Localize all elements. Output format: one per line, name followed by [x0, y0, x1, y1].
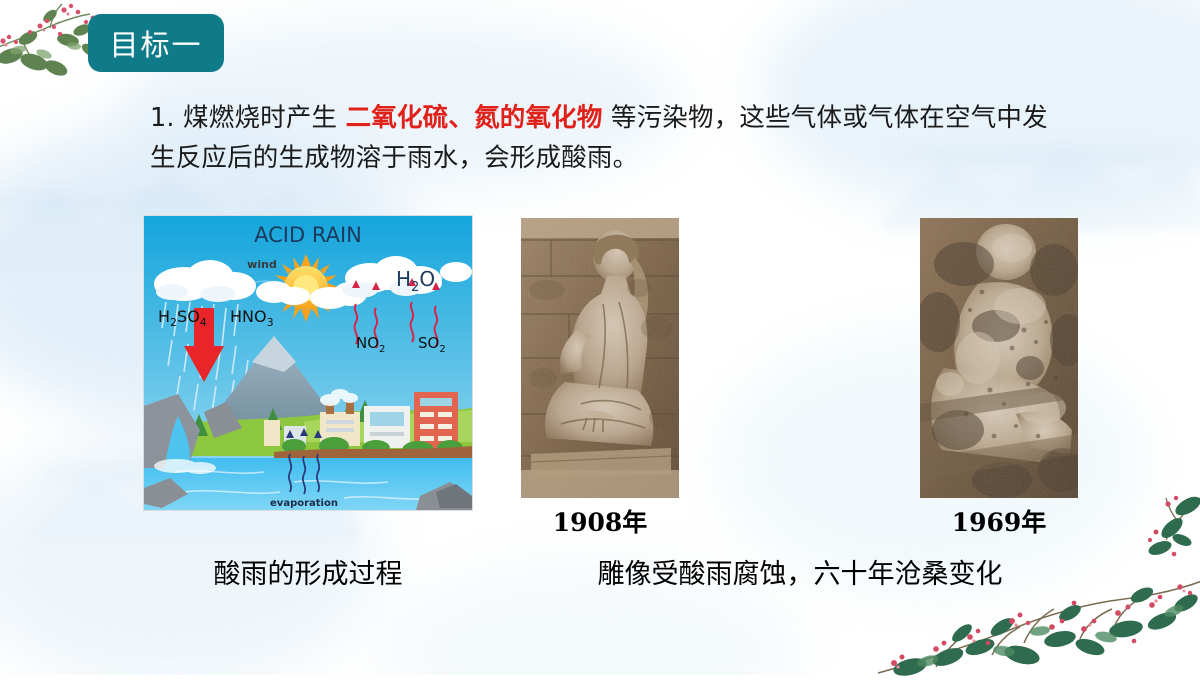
caption-acid-rain-process: 酸雨的形成过程 [120, 552, 496, 591]
caption-year-1908: 1908年 [521, 503, 679, 539]
paragraph-number: 1. [150, 103, 175, 133]
statue-photo-1969 [920, 218, 1078, 498]
evaporation-label: evaporation [270, 498, 338, 509]
acid-rain-title-label: ACID RAIN [254, 223, 362, 247]
paragraph-highlight: 二氧化硫、氮的氧化物 [346, 103, 603, 133]
caption-year-1969: 1969年 [920, 503, 1078, 539]
acid-rain-diagram-image: ACID RAIN wind H2O H2SO4 HNO3 NO2 SO2 ev… [143, 215, 473, 511]
caption-statue-corrosion: 雕像受酸雨腐蚀，六十年沧桑变化 [540, 552, 1060, 591]
paragraph-part-one: 煤燃烧时产生 [183, 103, 337, 133]
floral-decoration-mid-right [1132, 492, 1200, 572]
wind-label: wind [247, 258, 277, 271]
statue-photo-1908 [521, 218, 679, 498]
objective-badge-label: 目标一 [109, 22, 202, 64]
objective-badge: 目标一 [88, 14, 224, 72]
h2so4-label: H2SO4 [158, 307, 207, 329]
body-paragraph: 1. 煤燃烧时产生 二氧化硫、氮的氧化物 等污染物，这些气体或气体在空气中发生反… [150, 98, 1070, 178]
